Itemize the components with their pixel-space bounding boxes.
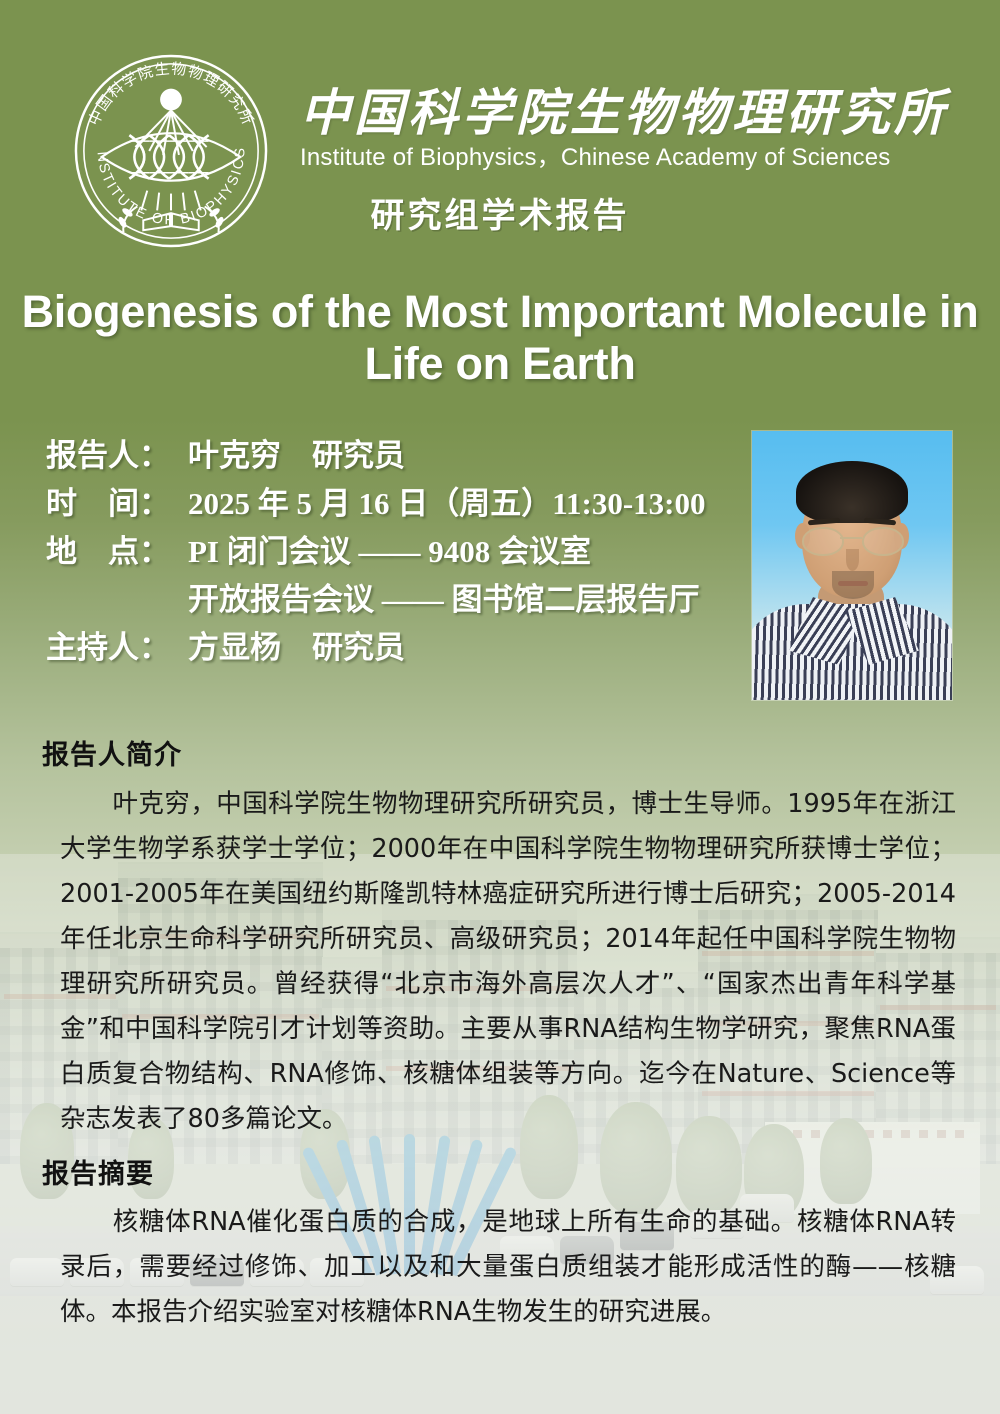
place-value-2: 开放报告会议 —— 图书馆二层报告厅 [188, 582, 700, 617]
speaker-portrait [752, 431, 952, 700]
nose [846, 549, 859, 571]
mouth [838, 581, 868, 586]
poster-header: 中国科学院生物物理研究所 INSTITUTE OF BIOPHYSICS 中国科… [0, 0, 1000, 258]
institute-name-en: Institute of Biophysics，Chinese Academy … [300, 143, 900, 173]
time-value: 2025 年 5 月 16 日（周五）11:30-13:00 [188, 486, 706, 521]
event-info-block: 报告人：叶克穷 研究员 时 间：2025 年 5 月 16 日（周五）11:30… [46, 432, 736, 672]
info-row-time: 时 间：2025 年 5 月 16 日（周五）11:30-13:00 [46, 480, 736, 528]
abstract-heading: 报告摘要 [42, 1152, 154, 1191]
speaker-label: 报告人： [46, 432, 188, 480]
bio-heading: 报告人简介 [42, 733, 182, 772]
institute-name-cn: 中国科学院生物物理研究所 [300, 82, 900, 144]
info-row-place: 地 点：PI 闭门会议 —— 9408 会议室 [46, 528, 736, 576]
info-row-speaker: 报告人：叶克穷 研究员 [46, 432, 736, 480]
host-label: 主持人： [46, 624, 188, 672]
bio-paragraph: 叶克穷，中国科学院生物物理研究所研究员，博士生导师。1995年在浙江大学生物学系… [60, 782, 956, 1142]
time-label: 时 间： [46, 480, 188, 528]
speaker-value: 叶克穷 研究员 [188, 438, 405, 473]
place-value-1: PI 闭门会议 —— 9408 会议室 [188, 534, 591, 569]
parked-car [10, 1258, 64, 1286]
page-title: Biogenesis of the Most Important Molecul… [20, 286, 980, 390]
seminar-poster: 中国科学院生物物理研究所 INSTITUTE OF BIOPHYSICS 中国科… [0, 0, 1000, 1414]
place-label: 地 点： [46, 528, 188, 576]
host-value: 方显杨 研究员 [188, 630, 405, 665]
abstract-text: 核糖体RNA催化蛋白质的合成，是地球上所有生命的基础。核糖体RNA转录后，需要经… [60, 1207, 956, 1327]
info-row-host: 主持人：方显杨 研究员 [46, 624, 736, 672]
info-row-place-2: 开放报告会议 —— 图书馆二层报告厅 [46, 576, 736, 624]
bio-text: 叶克穷，中国科学院生物物理研究所研究员，博士生导师。1995年在浙江大学生物学系… [60, 789, 956, 1134]
hair [796, 461, 908, 523]
series-label: 研究组学术报告 [0, 188, 1000, 237]
abstract-paragraph: 核糖体RNA催化蛋白质的合成，是地球上所有生命的基础。核糖体RNA转录后，需要经… [60, 1200, 956, 1335]
